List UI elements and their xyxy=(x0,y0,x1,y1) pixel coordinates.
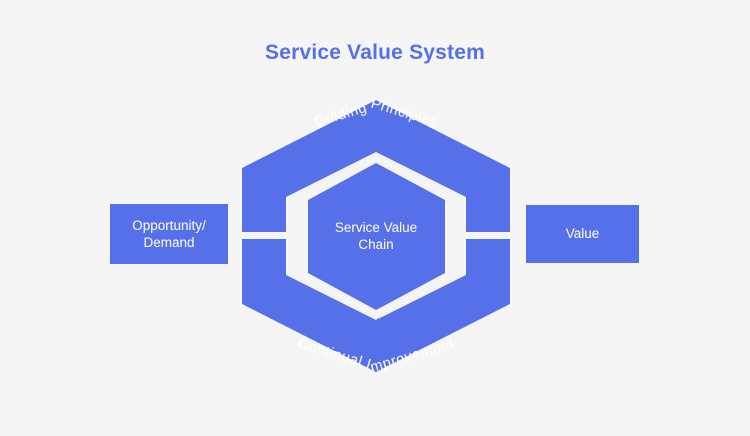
opportunity-demand-text: Opportunity/ Demand xyxy=(132,217,206,252)
service-value-chain-line2: Chain xyxy=(358,237,393,252)
opportunity-demand-line1: Opportunity/ xyxy=(132,217,206,234)
diagram-canvas: Service Value System xyxy=(0,0,750,436)
right-connector-gap xyxy=(508,234,526,238)
value-box[interactable]: Value xyxy=(526,205,639,263)
practices-label: Practices xyxy=(348,315,404,330)
opportunity-demand-box[interactable]: Opportunity/ Demand xyxy=(110,204,228,264)
opportunity-demand-line2: Demand xyxy=(132,234,206,251)
service-value-chain-line1: Service Value xyxy=(335,220,417,235)
governance-label: Governance xyxy=(339,139,413,154)
left-connector-gap xyxy=(228,234,244,238)
value-text: Value xyxy=(566,225,600,242)
